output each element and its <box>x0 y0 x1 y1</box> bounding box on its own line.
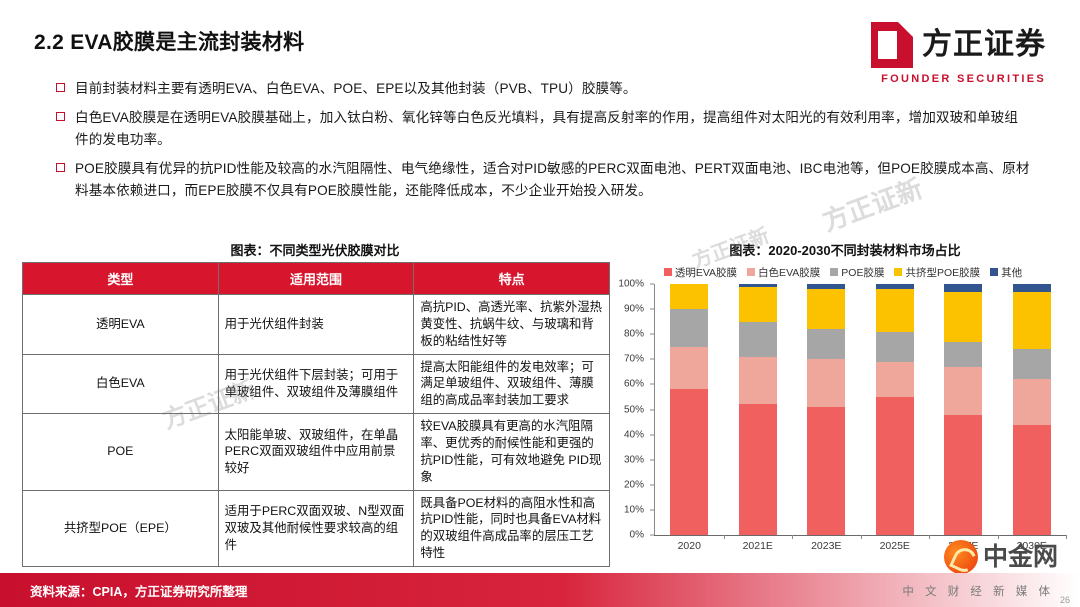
cell-type: 白色EVA <box>23 354 219 414</box>
legend-item[interactable]: 透明EVA胶膜 <box>664 265 737 280</box>
brand-logo: 方正证券 FOUNDER SECURITIES <box>871 22 1046 85</box>
square-bullet-icon <box>56 83 65 92</box>
cell-scope: 太阳能单玻、双玻组件，在单晶PERC双面双玻组件中应用前景较好 <box>218 414 414 490</box>
bar-slot <box>861 284 930 535</box>
y-axis-tick-label: 60% <box>624 379 644 390</box>
table-caption: 图表：不同类型光伏胶膜对比 <box>20 240 610 259</box>
table-row: POE 太阳能单玻、双玻组件，在单晶PERC双面双玻组件中应用前景较好 较EVA… <box>23 414 610 490</box>
y-axis-tick-label: 0% <box>630 530 644 541</box>
cell-feature: 提高太阳能组件的发电效率；可满足单玻组件、双玻组件、薄膜组的高成品率封装加工要求 <box>414 354 610 414</box>
bullet-text: 目前封装材料主要有透明EVA、白色EVA、POE、EPE以及其他封装（PVB、T… <box>75 78 637 99</box>
x-axis-tick-mark <box>724 535 725 539</box>
bar-segment <box>807 289 845 329</box>
bar-segment <box>944 284 982 292</box>
legend-item[interactable]: 白色EVA胶膜 <box>747 265 820 280</box>
bar-segment <box>1013 425 1051 535</box>
bar-segment <box>1013 284 1051 292</box>
column-header-type: 类型 <box>23 263 219 295</box>
bar-slot <box>655 284 724 535</box>
bar-segment <box>739 322 777 357</box>
y-axis-tick-label: 90% <box>624 304 644 315</box>
x-axis-tick-mark <box>998 535 999 539</box>
legend-item[interactable]: 其他 <box>990 265 1022 280</box>
bar-segment <box>944 415 982 535</box>
x-axis-tick-label: 2021E <box>724 540 793 552</box>
list-item: 白色EVA胶膜是在透明EVA胶膜基础上，加入钛白粉、氧化锌等白色反光填料，具有提… <box>56 107 1031 150</box>
cell-scope: 适用于PERC双面双玻、N型双面双玻及其他耐候性要求较高的组件 <box>218 490 414 566</box>
table-header-row: 类型 适用范围 特点 <box>23 263 610 295</box>
bar-slot <box>998 284 1067 535</box>
column-header-scope: 适用范围 <box>218 263 414 295</box>
cell-feature: 既具备POE材料的高阻水性和高抗PID性能，同时也具备EVA材料的双玻组件高成品… <box>414 490 610 566</box>
bar-segment <box>944 367 982 415</box>
stacked-bar[interactable] <box>876 284 914 535</box>
legend-item[interactable]: POE胶膜 <box>830 265 884 280</box>
y-axis-tick-label: 40% <box>624 429 644 440</box>
list-item: POE胶膜具有优异的抗PID性能及较高的水汽阻隔性、电气绝缘性，适合对PID敏感… <box>56 158 1031 201</box>
y-axis-tick-label: 80% <box>624 329 644 340</box>
footer-source-text: 资料来源：CPIA，方正证券研究所整理 <box>30 581 247 600</box>
stacked-bar[interactable] <box>944 284 982 535</box>
footer-bar: 资料来源：CPIA，方正证券研究所整理 中 文 财 经 新 媒 体 26 <box>0 573 1080 607</box>
page-title: 2.2 EVA胶膜是主流封装材料 <box>34 26 304 56</box>
bar-group <box>655 284 1066 535</box>
bar-segment <box>876 289 914 332</box>
founder-logo-icon <box>871 22 913 68</box>
x-axis-tick-label: 2025E <box>861 540 930 552</box>
x-axis-tick-mark <box>792 535 793 539</box>
legend-swatch-icon <box>664 268 672 276</box>
legend-swatch-icon <box>894 268 902 276</box>
x-axis-tick-mark <box>1066 535 1067 539</box>
stacked-bar[interactable] <box>670 284 708 535</box>
legend-swatch-icon <box>990 268 998 276</box>
legend-item[interactable]: 共挤型POE胶膜 <box>894 265 980 280</box>
x-axis-tick-mark <box>861 535 862 539</box>
bar-segment <box>670 347 708 390</box>
x-axis-tick-label: 2020 <box>655 540 724 552</box>
bar-slot <box>724 284 793 535</box>
bar-segment <box>876 397 914 535</box>
y-axis-tick-label: 10% <box>624 504 644 515</box>
y-axis: 0%10%20%30%40%50%60%70%80%90%100% <box>612 284 650 535</box>
y-axis-tick-label: 30% <box>624 454 644 465</box>
bar-slot <box>792 284 861 535</box>
bar-segment <box>944 342 982 367</box>
stacked-bar[interactable] <box>807 284 845 535</box>
bar-segment <box>670 309 708 347</box>
market-share-chart: 透明EVA胶膜白色EVA胶膜POE胶膜共挤型POE胶膜其他 0%10%20%30… <box>612 262 1074 572</box>
legend-label: 共挤型POE胶膜 <box>905 265 980 280</box>
cell-type: 共挤型POE（EPE） <box>23 490 219 566</box>
bullet-text: 白色EVA胶膜是在透明EVA胶膜基础上，加入钛白粉、氧化锌等白色反光填料，具有提… <box>75 107 1031 150</box>
legend-swatch-icon <box>747 268 755 276</box>
y-axis-tick-label: 20% <box>624 479 644 490</box>
bar-segment <box>1013 292 1051 350</box>
bar-segment <box>876 332 914 362</box>
bar-segment <box>739 357 777 405</box>
column-header-feature: 特点 <box>414 263 610 295</box>
x-axis-tick-label: 2023E <box>792 540 861 552</box>
table-row: 透明EVA 用于光伏组件封装 高抗PID、高透光率、抗紫外湿热黄变性、抗蜗牛纹、… <box>23 295 610 355</box>
stacked-bar[interactable] <box>1013 284 1051 535</box>
chart-legend: 透明EVA胶膜白色EVA胶膜POE胶膜共挤型POE胶膜其他 <box>612 264 1074 280</box>
footer-right-text: 中 文 财 经 新 媒 体 <box>902 583 1054 599</box>
bar-segment <box>807 359 845 407</box>
legend-label: 透明EVA胶膜 <box>675 265 737 280</box>
chart-plot-area: 0%10%20%30%40%50%60%70%80%90%100% 202020… <box>612 284 1074 572</box>
bar-segment <box>739 404 777 535</box>
film-comparison-table: 类型 适用范围 特点 透明EVA 用于光伏组件封装 高抗PID、高透光率、抗紫外… <box>22 262 610 567</box>
stacked-bar[interactable] <box>739 284 777 535</box>
legend-label: 其他 <box>1001 265 1022 280</box>
cngold-name: 中金网 <box>983 545 1058 570</box>
cngold-logo-icon <box>944 540 978 574</box>
table-row: 白色EVA 用于光伏组件下层封装；可用于单玻组件、双玻组件及薄膜组件 提高太阳能… <box>23 354 610 414</box>
bar-segment <box>739 287 777 322</box>
y-axis-tick-label: 70% <box>624 354 644 365</box>
brand-name: 方正证券 <box>922 30 1046 60</box>
bar-segment <box>670 389 708 535</box>
cell-feature: 高抗PID、高透光率、抗紫外湿热黄变性、抗蜗牛纹、与玻璃和背板的粘结性好等 <box>414 295 610 355</box>
bar-slot <box>929 284 998 535</box>
square-bullet-icon <box>56 112 65 121</box>
cngold-watermark: 中金网 <box>944 540 1058 574</box>
square-bullet-icon <box>56 163 65 172</box>
bar-segment <box>876 362 914 397</box>
x-axis-tick-mark <box>929 535 930 539</box>
y-axis-tick-label: 50% <box>624 404 644 415</box>
legend-label: POE胶膜 <box>841 265 884 280</box>
bar-segment <box>807 407 845 535</box>
cell-feature: 较EVA胶膜具有更高的水汽阻隔率、更优秀的耐候性能和更强的抗PID性能，可有效地… <box>414 414 610 490</box>
bar-segment <box>1013 349 1051 379</box>
table-row: 共挤型POE（EPE） 适用于PERC双面双玻、N型双面双玻及其他耐候性要求较高… <box>23 490 610 566</box>
cell-type: POE <box>23 414 219 490</box>
list-item: 目前封装材料主要有透明EVA、白色EVA、POE、EPE以及其他封装（PVB、T… <box>56 78 1031 99</box>
legend-swatch-icon <box>830 268 838 276</box>
bullet-text: POE胶膜具有优异的抗PID性能及较高的水汽阻隔性、电气绝缘性，适合对PID敏感… <box>75 158 1031 201</box>
bar-segment <box>807 329 845 359</box>
cell-type: 透明EVA <box>23 295 219 355</box>
cell-scope: 用于光伏组件封装 <box>218 295 414 355</box>
bar-segment <box>670 284 708 309</box>
chart-title: 图表：2020-2030不同封装材料市场占比 <box>620 240 1070 259</box>
bar-segment <box>944 292 982 342</box>
y-axis-tick-label: 100% <box>618 279 644 290</box>
cell-scope: 用于光伏组件下层封装；可用于单玻组件、双玻组件及薄膜组件 <box>218 354 414 414</box>
bar-segment <box>1013 379 1051 424</box>
legend-label: 白色EVA胶膜 <box>758 265 820 280</box>
page-number: 26 <box>1060 595 1070 605</box>
bullet-list: 目前封装材料主要有透明EVA、白色EVA、POE、EPE以及其他封装（PVB、T… <box>56 78 1031 209</box>
